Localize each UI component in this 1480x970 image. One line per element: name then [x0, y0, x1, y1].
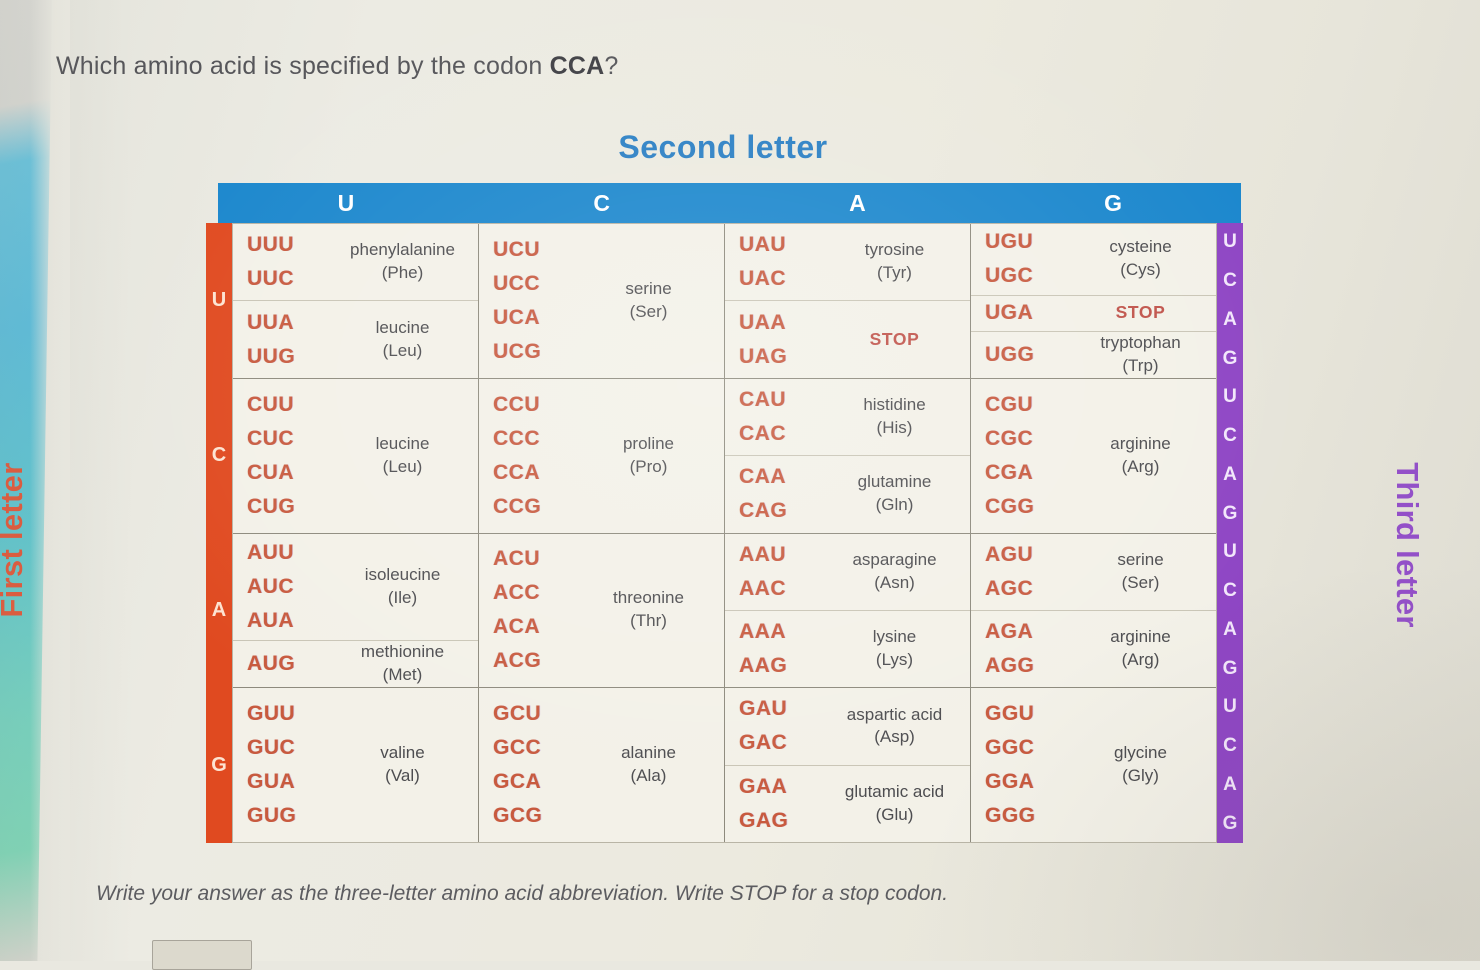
question-codon: CCA — [550, 52, 605, 80]
amino-acid-name: histidine(His) — [825, 394, 964, 440]
amino-acid-full-name: tryptophan — [1100, 333, 1180, 352]
stop-label: STOP — [825, 328, 964, 352]
codon-CUG: CUG — [247, 490, 333, 524]
amino-acid-name: isoleucine(Ile) — [333, 564, 472, 610]
amino-acid-abbreviation: (Asn) — [829, 572, 960, 595]
codon-list: CAUCAC — [739, 383, 825, 451]
codon-cell-CU: CUUCUCCUACUGleucine(Leu) — [233, 379, 479, 533]
first-letter-axis-label: First letter — [0, 390, 30, 690]
amino-acid-abbreviation: (Pro) — [583, 456, 714, 479]
amino-acid-group: CCUCCCCCACCGproline(Pro) — [479, 379, 724, 533]
second-letter-header-A: A — [730, 183, 986, 223]
question-suffix: ? — [604, 52, 618, 80]
answer-input[interactable] — [152, 940, 252, 970]
codon-cell-UU: UUUUUCphenylalanine(Phe)UUAUUGleucine(Le… — [233, 224, 479, 378]
third-letter-cell: C — [1217, 417, 1243, 456]
codon-list: UAUUAC — [739, 228, 825, 296]
amino-acid-full-name: cysteine — [1109, 237, 1171, 256]
codon-CGG: CGG — [985, 490, 1071, 524]
question-text: Which amino acid is specified by the cod… — [56, 52, 618, 81]
amino-acid-abbreviation: (Gly) — [1075, 765, 1206, 788]
third-letter-cell: G — [1217, 339, 1243, 378]
codon-cell-GC: GCUGCCGCAGCGalanine(Ala) — [479, 688, 725, 842]
codon-cell-AC: ACUACCACAACGthreonine(Thr) — [479, 534, 725, 688]
amino-acid-abbreviation: (Glu) — [829, 804, 960, 827]
codon-cell-AG: AGUAGCserine(Ser)AGAAGGarginine(Arg) — [971, 534, 1216, 688]
codon-UUU: UUU — [247, 228, 333, 262]
codon-GCU: GCU — [493, 697, 579, 731]
codon-CCG: CCG — [493, 490, 579, 524]
amino-acid-group: AUGmethionine(Met) — [233, 641, 478, 687]
codon-CCU: CCU — [493, 388, 579, 422]
second-letter-header-bar: UCAG — [218, 183, 1241, 223]
amino-acid-full-name: phenylalanine — [350, 240, 455, 259]
codon-UCG: UCG — [493, 335, 579, 369]
amino-acid-abbreviation: (Leu) — [337, 340, 468, 363]
amino-acid-name: leucine(Leu) — [333, 433, 472, 479]
amino-acid-abbreviation: (Ser) — [583, 301, 714, 324]
amino-acid-abbreviation: (Ser) — [1075, 572, 1206, 595]
codon-GAC: GAC — [739, 726, 825, 760]
codon-ACA: ACA — [493, 610, 579, 644]
codon-list: AUG — [247, 647, 333, 681]
third-letter-header-bar: UCAGUCAGUCAGUCAG — [1217, 223, 1243, 843]
amino-acid-abbreviation: (Arg) — [1075, 649, 1206, 672]
codon-list: AGUAGC — [985, 538, 1071, 606]
amino-acid-full-name: methionine — [361, 642, 444, 661]
codon-list: ACUACCACAACG — [493, 542, 579, 678]
amino-acid-full-name: STOP — [1116, 302, 1166, 322]
amino-acid-group: AAUAACasparagine(Asn) — [725, 534, 970, 611]
codon-list: AGAAGG — [985, 615, 1071, 683]
amino-acid-full-name: leucine — [376, 318, 430, 337]
amino-acid-name: aspartic acid(Asp) — [825, 704, 964, 750]
amino-acid-full-name: glutamic acid — [845, 782, 944, 801]
codon-cell-GG: GGUGGCGGAGGGglycine(Gly) — [971, 688, 1216, 842]
amino-acid-name: leucine(Leu) — [333, 317, 472, 363]
amino-acid-group: AAAAAGlysine(Lys) — [725, 611, 970, 687]
amino-acid-full-name: serine — [625, 279, 671, 298]
third-letter-cell: G — [1217, 804, 1243, 843]
amino-acid-abbreviation: (Ile) — [337, 587, 468, 610]
codon-UCA: UCA — [493, 301, 579, 335]
codon-AGA: AGA — [985, 615, 1071, 649]
codon-list: CUUCUCCUACUG — [247, 388, 333, 524]
amino-acid-full-name: serine — [1117, 550, 1163, 569]
amino-acid-name: alanine(Ala) — [579, 742, 718, 788]
codon-cell-GA: GAUGACaspartic acid(Asp)GAAGAGglutamic a… — [725, 688, 971, 842]
amino-acid-abbreviation: (Tyr) — [829, 262, 960, 285]
amino-acid-name: phenylalanine(Phe) — [333, 239, 472, 285]
amino-acid-group: AGUAGCserine(Ser) — [971, 534, 1216, 611]
third-letter-axis-label: Third letter — [1389, 395, 1425, 695]
codon-AAG: AAG — [739, 649, 825, 683]
codon-cell-AA: AAUAACasparagine(Asn)AAAAAGlysine(Lys) — [725, 534, 971, 688]
codon-list: GUUGUCGUAGUG — [247, 697, 333, 833]
codon-cell-UC: UCUUCCUCAUCGserine(Ser) — [479, 224, 725, 378]
codon-UUG: UUG — [247, 340, 333, 374]
codon-CGA: CGA — [985, 456, 1071, 490]
codon-cell-GU: GUUGUCGUAGUGvaline(Val) — [233, 688, 479, 842]
second-letter-header-C: C — [474, 183, 730, 223]
codon-UAU: UAU — [739, 228, 825, 262]
amino-acid-group: UAUUACtyrosine(Tyr) — [725, 224, 970, 301]
third-letter-cell: U — [1217, 223, 1243, 262]
amino-acid-group: UUAUUGleucine(Leu) — [233, 301, 478, 377]
codon-list: CAACAG — [739, 460, 825, 528]
second-letter-header-U: U — [218, 183, 474, 223]
codon-CAU: CAU — [739, 383, 825, 417]
amino-acid-group: UCUUCCUCAUCGserine(Ser) — [479, 224, 724, 378]
amino-acid-group: CAUCAChistidine(His) — [725, 379, 970, 456]
amino-acid-name: lysine(Lys) — [825, 626, 964, 672]
third-letter-cell: A — [1217, 456, 1243, 495]
first-letter-header-G: G — [206, 688, 232, 843]
codon-AUC: AUC — [247, 570, 333, 604]
codon-UUC: UUC — [247, 262, 333, 296]
third-letter-cell: U — [1217, 688, 1243, 727]
amino-acid-name: methionine(Met) — [333, 641, 472, 687]
codon-row-C: CUUCUCCUACUGleucine(Leu)CCUCCCCCACCGprol… — [233, 379, 1216, 534]
codon-cell-CG: CGUCGCCGACGGarginine(Arg) — [971, 379, 1216, 533]
codon-UAA: UAA — [739, 306, 825, 340]
codon-CAC: CAC — [739, 417, 825, 451]
codon-cell-CA: CAUCAChistidine(His)CAACAGglutamine(Gln) — [725, 379, 971, 533]
amino-acid-name: valine(Val) — [333, 742, 472, 788]
third-letter-cell: U — [1217, 378, 1243, 417]
answer-instruction: Write your answer as the three-letter am… — [96, 882, 948, 906]
amino-acid-full-name: lysine — [873, 627, 916, 646]
amino-acid-group: ACUACCACAACGthreonine(Thr) — [479, 534, 724, 688]
amino-acid-name: proline(Pro) — [579, 433, 718, 479]
amino-acid-full-name: isoleucine — [365, 565, 441, 584]
amino-acid-abbreviation: (Trp) — [1075, 355, 1206, 378]
codon-UAC: UAC — [739, 262, 825, 296]
amino-acid-group: GCUGCCGCAGCGalanine(Ala) — [479, 688, 724, 842]
codon-row-U: UUUUUCphenylalanine(Phe)UUAUUGleucine(Le… — [233, 224, 1216, 379]
amino-acid-full-name: arginine — [1110, 434, 1171, 453]
amino-acid-full-name: arginine — [1110, 627, 1171, 646]
second-letter-header-G: G — [985, 183, 1241, 223]
codon-GUC: GUC — [247, 731, 333, 765]
amino-acid-group: GAUGACaspartic acid(Asp) — [725, 688, 970, 765]
codon-list: UUAUUG — [247, 306, 333, 374]
first-letter-header-U: U — [206, 223, 232, 378]
third-letter-cell: C — [1217, 727, 1243, 766]
codon-GCA: GCA — [493, 765, 579, 799]
codon-AAU: AAU — [739, 538, 825, 572]
codon-list: AAAAAG — [739, 615, 825, 683]
codon-CCC: CCC — [493, 422, 579, 456]
codon-list: UGA — [985, 296, 1071, 330]
codon-CUC: CUC — [247, 422, 333, 456]
codon-row-G: GUUGUCGUAGUGvaline(Val)GCUGCCGCAGCGalani… — [233, 688, 1216, 842]
codon-CCA: CCA — [493, 456, 579, 490]
amino-acid-group: UGASTOP — [971, 296, 1216, 332]
amino-acid-name: tyrosine(Tyr) — [825, 239, 964, 285]
amino-acid-full-name: alanine — [621, 743, 676, 762]
amino-acid-group: UGUUGCcysteine(Cys) — [971, 224, 1216, 296]
amino-acid-group: CGUCGCCGACGGarginine(Arg) — [971, 379, 1216, 533]
stop-label: STOP — [1071, 301, 1210, 325]
amino-acid-full-name: proline — [623, 434, 674, 453]
codon-CGC: CGC — [985, 422, 1071, 456]
third-letter-cell: A — [1217, 301, 1243, 340]
codon-list: UCUUCCUCAUCG — [493, 233, 579, 369]
codon-CGU: CGU — [985, 388, 1071, 422]
amino-acid-name: arginine(Arg) — [1071, 433, 1210, 479]
third-letter-cell: G — [1217, 649, 1243, 688]
amino-acid-name: cysteine(Cys) — [1071, 236, 1210, 282]
amino-acid-abbreviation: (Asp) — [829, 726, 960, 749]
codon-AGG: AGG — [985, 649, 1071, 683]
codon-GGA: GGA — [985, 765, 1071, 799]
amino-acid-name: asparagine(Asn) — [825, 549, 964, 595]
amino-acid-group: AUUAUCAUAisoleucine(Ile) — [233, 534, 478, 642]
amino-acid-name: glutamine(Gln) — [825, 471, 964, 517]
codon-UGU: UGU — [985, 225, 1071, 259]
third-letter-cell: U — [1217, 533, 1243, 572]
codon-CUA: CUA — [247, 456, 333, 490]
amino-acid-full-name: glycine — [1114, 743, 1167, 762]
amino-acid-abbreviation: (Lys) — [829, 649, 960, 672]
codon-cell-UA: UAUUACtyrosine(Tyr)UAAUAGSTOP — [725, 224, 971, 378]
codon-AUG: AUG — [247, 647, 333, 681]
codon-grid: UUUUUCphenylalanine(Phe)UUAUUGleucine(Le… — [232, 223, 1217, 843]
codon-list: GGUGGCGGAGGG — [985, 697, 1071, 833]
codon-row-A: AUUAUCAUAisoleucine(Ile)AUGmethionine(Me… — [233, 534, 1216, 689]
codon-AGU: AGU — [985, 538, 1071, 572]
amino-acid-name: threonine(Thr) — [579, 587, 718, 633]
codon-list: CGUCGCCGACGG — [985, 388, 1071, 524]
third-letter-cell: G — [1217, 494, 1243, 533]
codon-GGG: GGG — [985, 799, 1071, 833]
codon-cell-CC: CCUCCCCCACCGproline(Pro) — [479, 379, 725, 533]
codon-ACG: ACG — [493, 644, 579, 678]
codon-GAA: GAA — [739, 770, 825, 804]
codon-UUA: UUA — [247, 306, 333, 340]
amino-acid-full-name: glutamine — [858, 472, 932, 491]
amino-acid-abbreviation: (Leu) — [337, 456, 468, 479]
amino-acid-group: UAAUAGSTOP — [725, 301, 970, 377]
codon-AAA: AAA — [739, 615, 825, 649]
third-letter-cell: C — [1217, 262, 1243, 301]
codon-list: UGUUGC — [985, 225, 1071, 293]
codon-list: UAAUAG — [739, 306, 825, 374]
amino-acid-full-name: histidine — [863, 395, 925, 414]
codon-UCC: UCC — [493, 267, 579, 301]
codon-list: GCUGCCGCAGCG — [493, 697, 579, 833]
amino-acid-group: GAAGAGglutamic acid(Glu) — [725, 766, 970, 842]
amino-acid-full-name: aspartic acid — [847, 705, 942, 724]
codon-UGG: UGG — [985, 338, 1071, 372]
amino-acid-group: AGAAGGarginine(Arg) — [971, 611, 1216, 687]
amino-acid-group: UGGtryptophan(Trp) — [971, 332, 1216, 378]
third-letter-cell: A — [1217, 611, 1243, 650]
codon-UCU: UCU — [493, 233, 579, 267]
amino-acid-name: arginine(Arg) — [1071, 626, 1210, 672]
codon-GGC: GGC — [985, 731, 1071, 765]
amino-acid-full-name: tyrosine — [865, 240, 925, 259]
codon-GCC: GCC — [493, 731, 579, 765]
amino-acid-abbreviation: (His) — [829, 417, 960, 440]
codon-list: AAUAAC — [739, 538, 825, 606]
amino-acid-name: tryptophan(Trp) — [1071, 332, 1210, 378]
codon-CAA: CAA — [739, 460, 825, 494]
codon-GAU: GAU — [739, 692, 825, 726]
codon-list: CCUCCCCCACCG — [493, 388, 579, 524]
amino-acid-name: glutamic acid(Glu) — [825, 781, 964, 827]
amino-acid-group: CUUCUCCUACUGleucine(Leu) — [233, 379, 478, 533]
codon-AUA: AUA — [247, 604, 333, 638]
codon-GUA: GUA — [247, 765, 333, 799]
amino-acid-group: GUUGUCGUAGUGvaline(Val) — [233, 688, 478, 842]
amino-acid-full-name: leucine — [376, 434, 430, 453]
amino-acid-abbreviation: (Arg) — [1075, 456, 1206, 479]
amino-acid-full-name: threonine — [613, 588, 684, 607]
codon-GCG: GCG — [493, 799, 579, 833]
codon-AUU: AUU — [247, 536, 333, 570]
bezel-fade — [30, 0, 70, 961]
codon-UGC: UGC — [985, 259, 1071, 293]
amino-acid-group: CAACAGglutamine(Gln) — [725, 456, 970, 532]
amino-acid-name: glycine(Gly) — [1071, 742, 1210, 788]
codon-CUU: CUU — [247, 388, 333, 422]
amino-acid-abbreviation: (Gln) — [829, 494, 960, 517]
question-prefix: Which amino acid is specified by the cod… — [56, 52, 550, 80]
codon-list: GAAGAG — [739, 770, 825, 838]
amino-acid-name: serine(Ser) — [1071, 549, 1210, 595]
first-letter-header-C: C — [206, 378, 232, 533]
second-letter-title: Second letter — [218, 129, 1228, 166]
codon-AAC: AAC — [739, 572, 825, 606]
codon-list: AUUAUCAUA — [247, 536, 333, 638]
first-letter-header-A: A — [206, 533, 232, 688]
amino-acid-full-name: STOP — [870, 329, 920, 349]
codon-list: UUUUUC — [247, 228, 333, 296]
codon-list: GAUGAC — [739, 692, 825, 760]
amino-acid-abbreviation: (Met) — [337, 664, 468, 687]
amino-acid-abbreviation: (Thr) — [583, 610, 714, 633]
amino-acid-name: serine(Ser) — [579, 278, 718, 324]
codon-cell-AU: AUUAUCAUAisoleucine(Ile)AUGmethionine(Me… — [233, 534, 479, 688]
codon-cell-UG: UGUUGCcysteine(Cys)UGASTOPUGGtryptophan(… — [971, 224, 1216, 378]
codon-table: UCAG UCAG UUUUUCphenylalanine(Phe)UUAUUG… — [206, 183, 1241, 843]
screen-photo: Which amino acid is specified by the cod… — [0, 0, 1480, 961]
amino-acid-abbreviation: (Val) — [337, 765, 468, 788]
codon-UAG: UAG — [739, 340, 825, 374]
amino-acid-abbreviation: (Ala) — [583, 765, 714, 788]
codon-ACU: ACU — [493, 542, 579, 576]
third-letter-cell: A — [1217, 766, 1243, 805]
first-letter-header-bar: UCAG — [206, 223, 232, 843]
codon-ACC: ACC — [493, 576, 579, 610]
amino-acid-abbreviation: (Phe) — [337, 262, 468, 285]
amino-acid-abbreviation: (Cys) — [1075, 259, 1206, 282]
codon-GAG: GAG — [739, 804, 825, 838]
amino-acid-full-name: valine — [380, 743, 424, 762]
amino-acid-group: UUUUUCphenylalanine(Phe) — [233, 224, 478, 301]
codon-UGA: UGA — [985, 296, 1071, 330]
amino-acid-group: GGUGGCGGAGGGglycine(Gly) — [971, 688, 1216, 842]
codon-CAG: CAG — [739, 494, 825, 528]
third-letter-cell: C — [1217, 572, 1243, 611]
amino-acid-full-name: asparagine — [852, 550, 936, 569]
codon-list: UGG — [985, 338, 1071, 372]
codon-GUG: GUG — [247, 799, 333, 833]
codon-GGU: GGU — [985, 697, 1071, 731]
codon-GUU: GUU — [247, 697, 333, 731]
codon-AGC: AGC — [985, 572, 1071, 606]
